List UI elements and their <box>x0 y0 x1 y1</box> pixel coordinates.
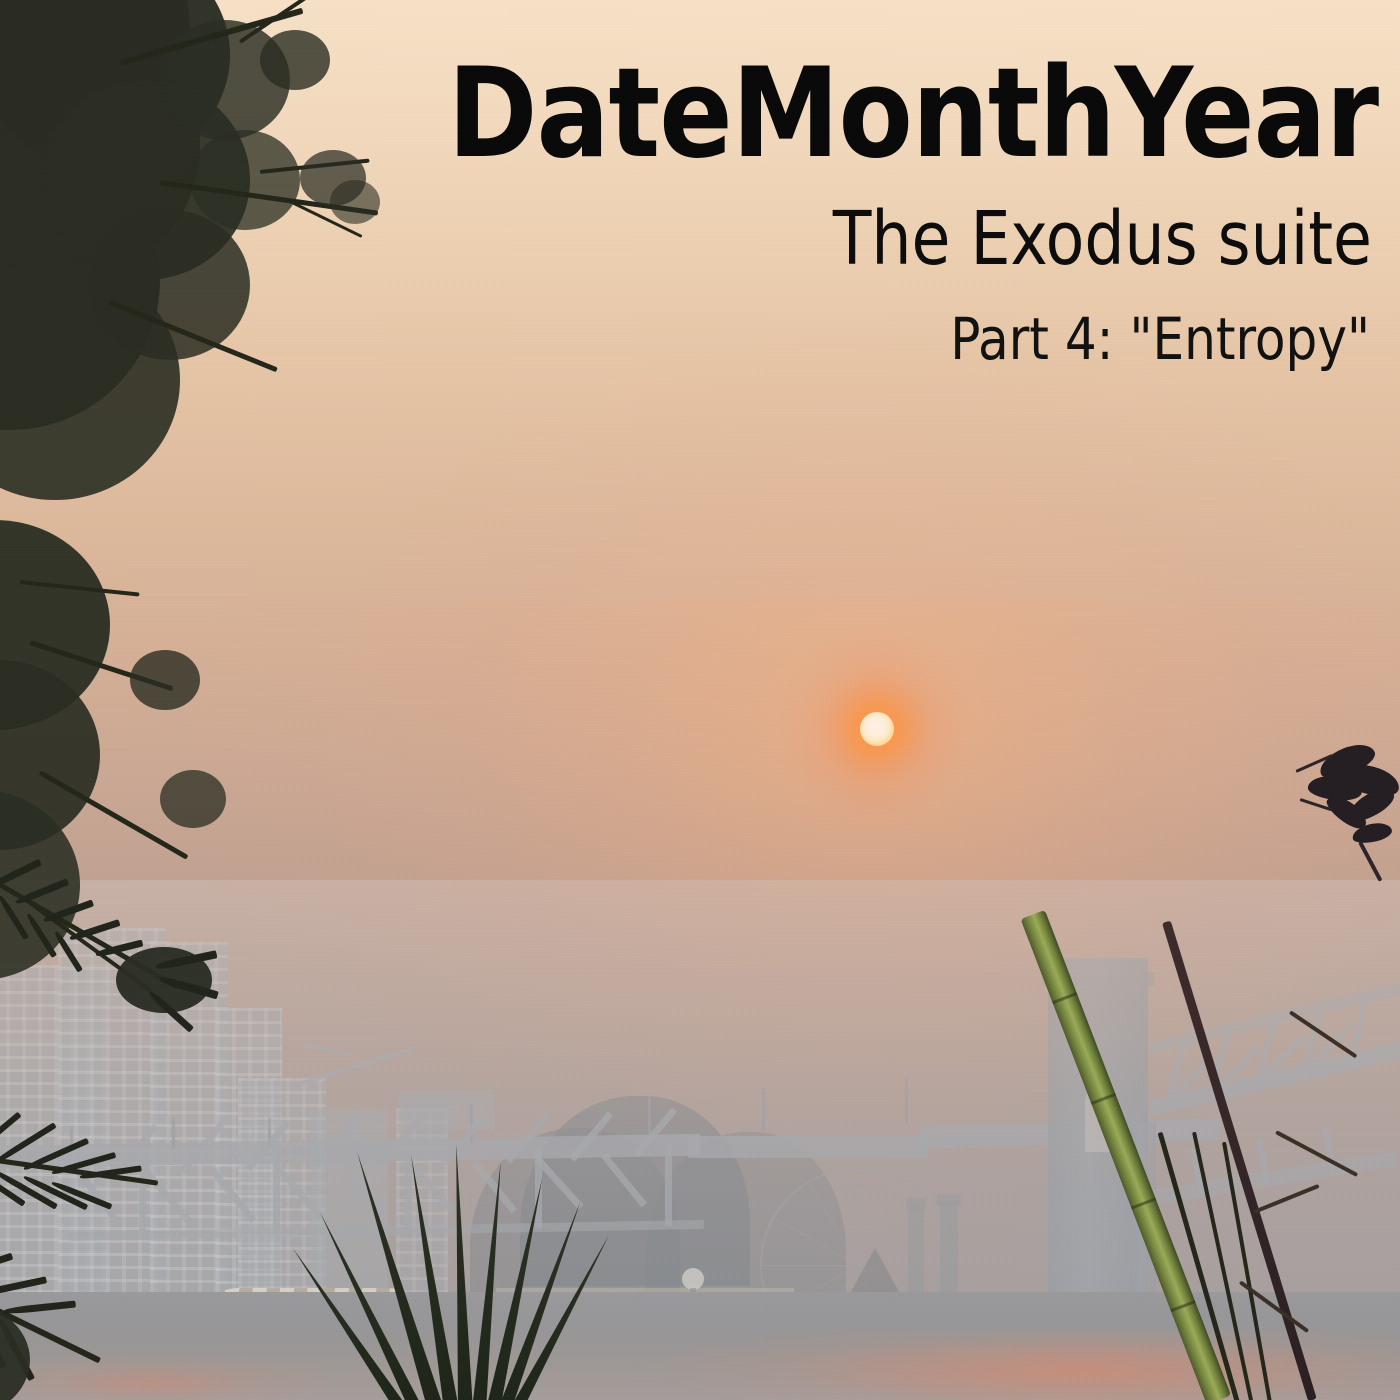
sun-reflection-secondary <box>0 1356 330 1400</box>
album-title: DateMonthYear <box>447 52 1378 176</box>
cover-text-block: DateMonthYear The Exodus suite Part 4: "… <box>418 52 1378 368</box>
sun-reflection <box>560 1330 1400 1400</box>
album-subtitle: The Exodus suite <box>466 202 1372 276</box>
album-cover: DateMonthYear The Exodus suite Part 4: "… <box>0 0 1400 1400</box>
album-part-label: Part 4: "Entropy" <box>456 310 1370 368</box>
